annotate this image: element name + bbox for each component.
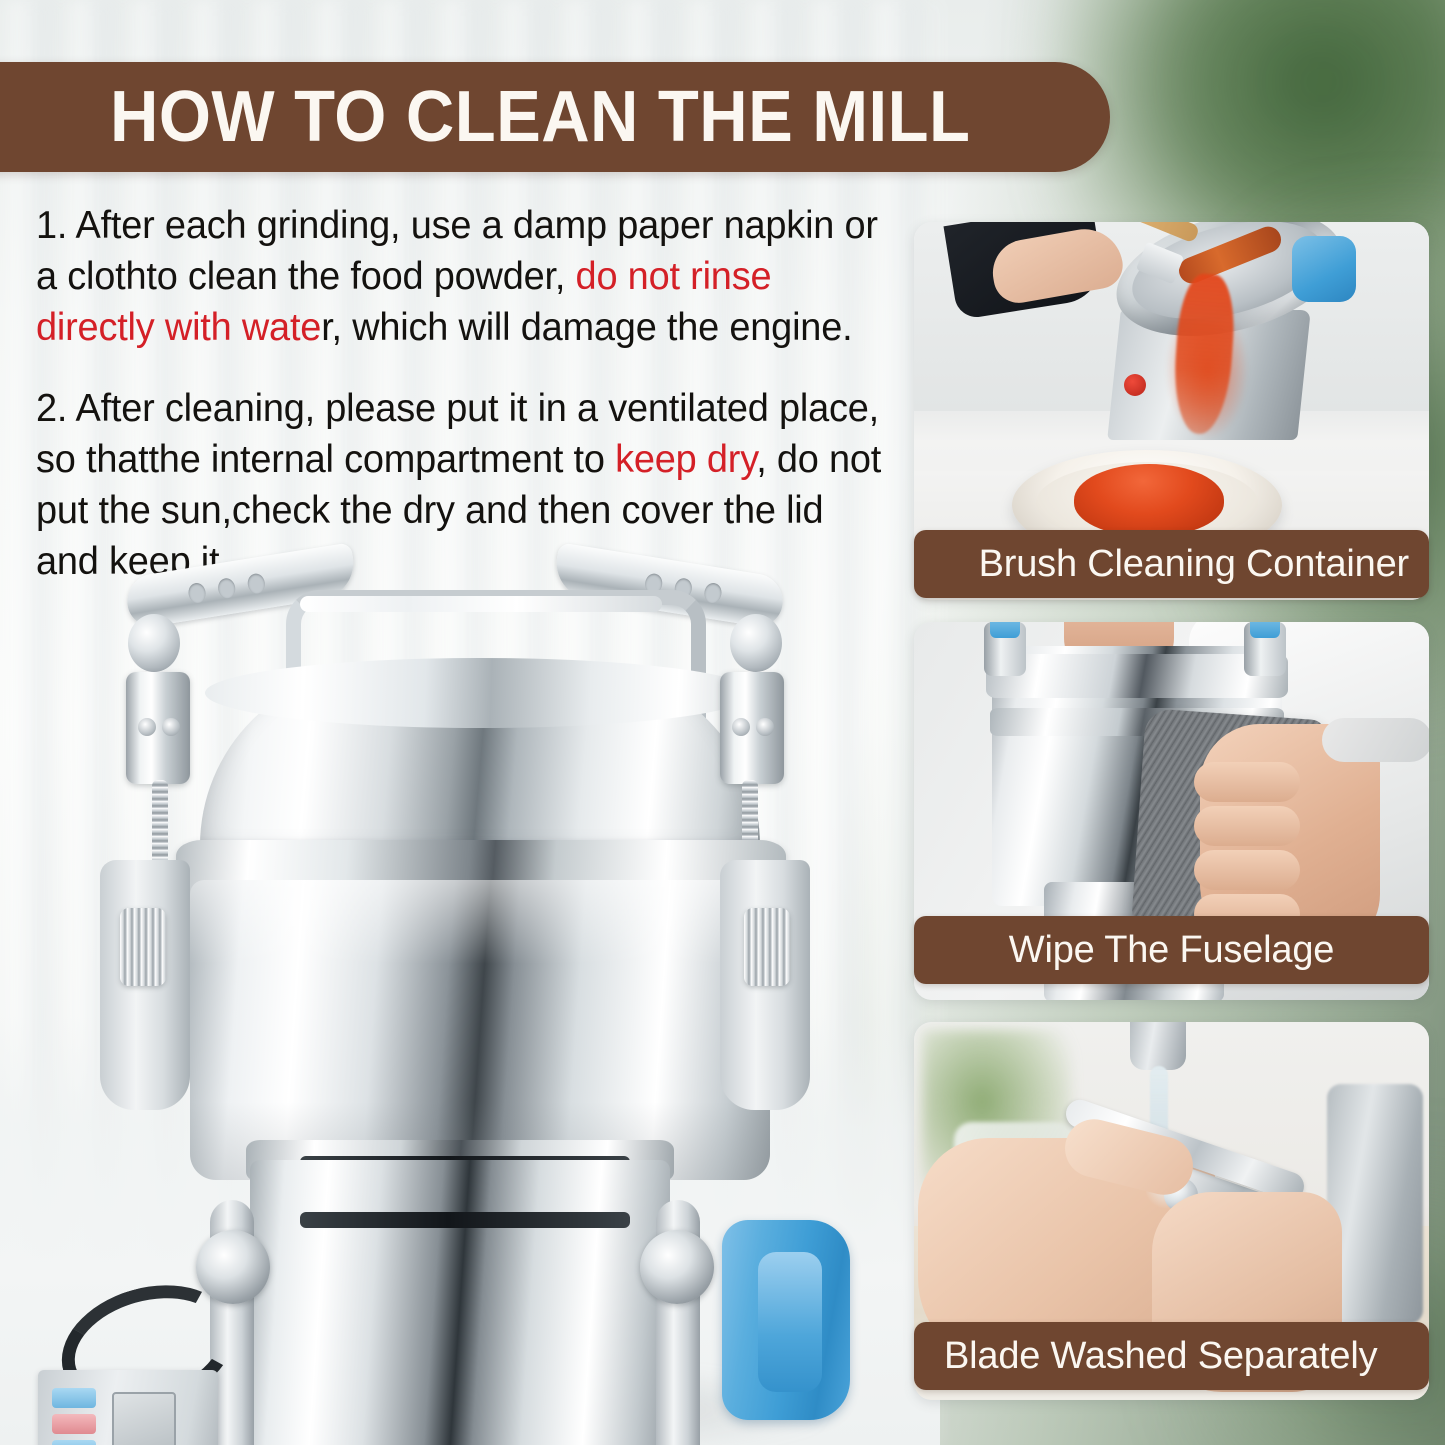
panel1-blue-knob <box>1292 236 1356 302</box>
lever-pivot-ball-left <box>128 614 180 672</box>
blue-tilt-knob-face <box>758 1252 822 1392</box>
caption-brush-cleaning-container: Brush Cleaning Container <box>914 530 1429 598</box>
panel2-canister-rim <box>986 654 1288 698</box>
page-title: HOW TO CLEAN THE MILL <box>110 66 970 168</box>
clamp-block-right <box>720 672 784 784</box>
lever-pivot-ball-right <box>730 614 782 672</box>
panel1-chili-powder-mound <box>1074 464 1224 536</box>
clamp-screw-left <box>138 718 156 736</box>
panel2-blue-cap-left <box>990 622 1020 638</box>
panel2-sleeve-cuff <box>1322 718 1429 762</box>
caption-1-label: Brush Cleaning Container <box>914 542 1429 586</box>
caption-3-label: Blade Washed Separately <box>914 1334 1429 1378</box>
clamp-screw-right-2 <box>756 718 774 736</box>
control-panel-display <box>112 1392 176 1445</box>
control-panel-buttons <box>52 1388 96 1445</box>
thumbwheel-right <box>744 908 790 986</box>
grinder-lid-top-highlight <box>205 658 755 728</box>
panel2-blue-cap-right <box>1250 622 1280 638</box>
caption-2-label: Wipe The Fuselage <box>914 928 1429 972</box>
clamp-screw-left-2 <box>162 718 180 736</box>
chamber-highlight <box>190 880 770 1180</box>
tilt-pivot-right <box>640 1230 714 1304</box>
tilt-pivot-left <box>196 1230 270 1304</box>
panel2-fingers <box>1194 762 1304 942</box>
panel1-power-button-icon <box>1124 374 1146 396</box>
panel3-faucet <box>1130 1022 1186 1070</box>
instruction-1-tail: r, which will damage the engine. <box>321 306 852 349</box>
product-image-mill-grinder <box>0 540 910 1445</box>
caption-wipe-the-fuselage: Wipe The Fuselage <box>914 916 1429 984</box>
thumbwheel-left <box>120 908 166 986</box>
caption-blade-washed-separately: Blade Washed Separately <box>914 1322 1429 1390</box>
lever-holes-left <box>187 572 266 604</box>
vent-slot-lower <box>300 1212 630 1228</box>
instruction-item-1: 1. After each grinding, use a damp paper… <box>36 200 883 353</box>
clamp-screw-right <box>732 718 750 736</box>
clamp-block-left <box>126 672 190 784</box>
instruction-2-highlight: keep dry <box>615 438 756 481</box>
lid-handle-highlight <box>300 596 662 612</box>
infographic-page: HOW TO CLEAN THE MILL 1. After each grin… <box>0 0 1445 1445</box>
motor-base-column <box>250 1160 670 1445</box>
